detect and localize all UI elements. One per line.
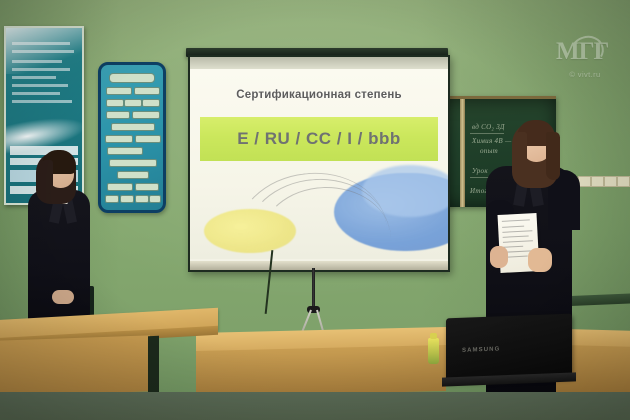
poster-text-line	[12, 76, 56, 79]
chart-node	[106, 87, 132, 95]
chart-node	[111, 123, 155, 131]
chart-node	[132, 111, 160, 119]
organizational-chart-board	[98, 62, 166, 213]
chart-node	[142, 99, 160, 107]
watermark: МГГ © vivt.ru	[552, 34, 618, 88]
paper-text-line	[502, 219, 530, 221]
bottle-cap	[430, 333, 437, 339]
wall-card	[591, 176, 604, 187]
slide-title: Сертификационная степень	[190, 89, 448, 101]
bottom-letterbox-band	[0, 392, 630, 420]
poster-text-line	[12, 68, 70, 71]
chart-node	[117, 171, 149, 179]
chalkboard-divider	[460, 99, 465, 207]
chart-node	[135, 135, 161, 143]
chart-node	[149, 195, 161, 203]
chart-node	[135, 183, 159, 191]
chart-node	[106, 111, 130, 119]
person-hair-side	[514, 132, 527, 176]
watermark-credit: © vivt.ru	[552, 70, 618, 79]
chart-node	[107, 183, 133, 191]
chart-node	[120, 195, 134, 203]
watermark-logo: МГГ	[556, 34, 614, 70]
chart-node	[124, 99, 142, 107]
bottle	[428, 338, 439, 364]
poster-text-line	[12, 100, 72, 103]
paper-text-line	[502, 230, 532, 233]
person-hair-side	[546, 132, 560, 180]
chalkboard-text: Урок	[472, 167, 488, 175]
chart-node	[134, 87, 160, 95]
chart-node	[135, 195, 149, 203]
paper-text-line	[503, 235, 529, 237]
presentation-slide: Сертификационная степень E / RU / CC / I…	[190, 69, 448, 259]
paper-text-line	[502, 226, 524, 228]
poster-text-line	[12, 92, 60, 95]
person-hands	[52, 290, 74, 304]
chalk-mark	[470, 133, 504, 134]
person-hair-side	[40, 160, 53, 194]
screen-bottom-bar	[190, 261, 448, 270]
chart-node	[105, 135, 133, 143]
desk-left-front	[0, 335, 150, 396]
chart-node	[107, 147, 143, 155]
poster-text-line	[12, 60, 62, 63]
wall-card	[604, 176, 617, 187]
chalkboard-text: Химия 4В —	[472, 137, 512, 145]
chart-node	[109, 73, 155, 83]
poster-text-line	[12, 50, 74, 53]
wall-card	[617, 176, 630, 187]
desk-left-leg	[148, 336, 159, 398]
person-hand-left	[490, 246, 508, 268]
desk-middle-front	[196, 345, 446, 397]
chart-node	[106, 99, 124, 107]
person-hand-right	[528, 248, 552, 272]
chart-node	[109, 159, 157, 167]
classroom-photo: задача [А] вд СО₂ 3Д Химия 4В — опыт Уро…	[0, 0, 630, 420]
chart-node	[105, 195, 119, 203]
chalkboard-text: опыт	[480, 147, 498, 155]
slide-highlight-band: E / RU / CC / I / bbb	[200, 117, 438, 161]
paper-text-line	[503, 246, 523, 248]
poster-text-line	[12, 84, 68, 87]
slide-band-text: E / RU / CC / I / bbb	[237, 129, 401, 149]
screen-top-band	[190, 57, 448, 69]
chalkboard-text: вд СО₂ 3Д	[472, 123, 505, 131]
poster-text-line	[12, 42, 70, 45]
projection-screen: Сертификационная степень E / RU / CC / I…	[188, 55, 450, 272]
paper-text-line	[503, 240, 533, 243]
